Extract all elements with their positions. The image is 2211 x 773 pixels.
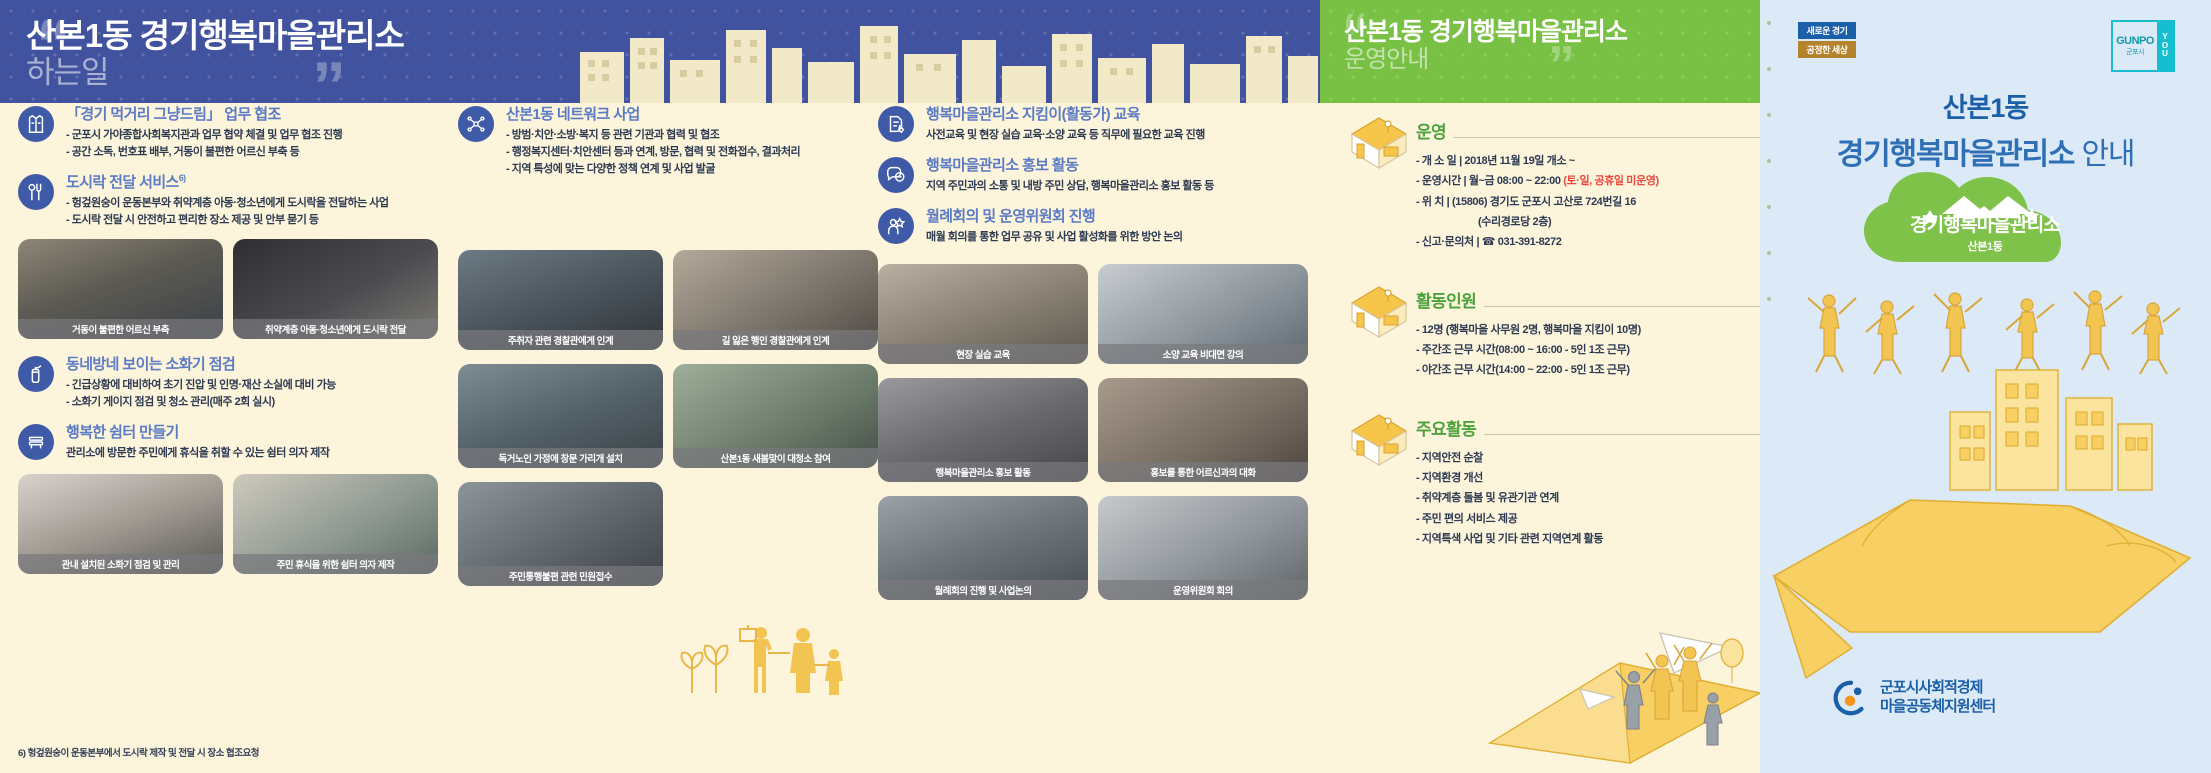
photo-card: 운영위원회 회의 (1098, 496, 1308, 600)
house-icon (1348, 283, 1410, 339)
photo-card: 주취자 관련 경찰관에게 인계 (458, 250, 663, 350)
operation-header-title: 산본1동 경기행복마을관리소 운영안내 (1344, 18, 1627, 74)
bullet: 매월 회의를 통한 업무 공유 및 사업 활성화를 위한 방안 논의 (926, 229, 1308, 246)
cutlery-icon (18, 174, 54, 210)
heading-rule (1454, 137, 1760, 138)
photo-caption: 월례회의 진행 및 사업논의 (878, 580, 1088, 600)
section-network-project: 산본1동 네트워크 사업 - 방범·치안·소방·복지 등 관련 기관과 협력 및… (458, 103, 878, 178)
list-item: - 지역환경 개선 (1416, 468, 1760, 488)
item-label: - 위 치 (1416, 196, 1444, 208)
section-bullets: 사전교육 및 현장 실습 교육·소양 교육 등 직무에 필요한 교육 진행 (926, 127, 1308, 144)
section-bullets: 지역 주민과의 소통 및 내방 주민 상담, 행복마을관리소 홍보 활동 등 (926, 178, 1308, 195)
bullet: - 공간 소독, 번호표 배부, 거동이 불편한 어르신 부축 등 (66, 144, 438, 161)
list-item: - 운영시간 | 월~금 08:00 ~ 22:00 (토·일, 공휴일 미운영… (1416, 171, 1760, 191)
operation-body: 운영 - 개 소 일 | 2018년 11월 19일 개소 ~ - 운영시간 |… (1320, 118, 1760, 575)
list-item: - 위 치 | (15806) 경기도 군포시 고산로 724번길 16 (수리… (1416, 192, 1760, 233)
item-value: 2018년 11월 19일 개소 ~ (1464, 155, 1574, 167)
bullet: - 지역 특성에 맞는 다양한 정책 연계 및 사업 발굴 (506, 161, 878, 178)
bullet: 지역 주민과의 소통 및 내방 주민 상담, 행복마을관리소 홍보 활동 등 (926, 178, 1308, 195)
section-title: 동네방네 보이는 소화기 점검 (66, 353, 438, 374)
item-value: (15806) 경기도 군포시 고산로 724번길 16 (1452, 196, 1636, 208)
family-illustration (668, 583, 868, 703)
presenter-icon (878, 208, 914, 244)
photo-card: 독거노인 가정에 창문 가리개 설치 (458, 364, 663, 468)
bullet: - 방범·치안·소방·복지 등 관련 기관과 협력 및 협조 (506, 127, 878, 144)
list-item: - 신고·문의처 | ☎ 031-391-8272 (1416, 232, 1760, 252)
block-title: 운영 (1416, 118, 1446, 143)
photo-card: 현장 실습 교육 (878, 264, 1088, 364)
item-highlight: (토·일, 공휴일 미운영) (1563, 175, 1659, 187)
item-value: 월~금 08:00 ~ 22:00 (1469, 175, 1561, 187)
section-guardian-training: 행복마을관리소 지킴이(활동가) 교육 사전교육 및 현장 실습 교육·소양 교… (878, 103, 1308, 144)
section-monthly-meeting: 월례회의 및 운영위원회 진행 매월 회의를 통한 업무 공유 및 사업 활성화… (878, 205, 1308, 246)
gunpo-logo-side: YOU (2157, 22, 2173, 70)
photo-group-col2-row2: 독거노인 가정에 창문 가리개 설치 산본1동 새봄맞이 대청소 참여 (458, 364, 878, 468)
skyline-illustration (560, 0, 1320, 103)
photo-caption: 거동이 불편한 어르신 부축 (18, 319, 223, 339)
center-logo-line1: 군포시사회적경제 (1880, 679, 1995, 698)
column-one: 「경기 먹거리 그냥드림」 업무 협조 - 군포시 가야종합사회복지관과 업무 … (18, 103, 438, 588)
inside-columns: 「경기 먹거리 그냥드림」 업무 협조 - 군포시 가야종합사회복지관과 업무 … (0, 103, 1320, 773)
photo-group-col3-row3: 월례회의 진행 및 사업논의 운영위원회 회의 (878, 496, 1308, 600)
paper-plane-people-illustration (1460, 573, 1760, 773)
photo-card: 관내 설치된 소화기 점검 및 관리 (18, 474, 223, 574)
section-title: 행복한 쉼터 만들기 (66, 421, 438, 442)
badge-sub: 산본1동 (1846, 238, 2124, 254)
operation-info-list: - 개 소 일 | 2018년 11월 19일 개소 ~ - 운영시간 | 월~… (1416, 151, 1760, 253)
gyeonggi-logo: 새로운 경기 공정한 세상 (1798, 22, 1856, 58)
cover-title-bold: 경기행복마을관리소 (1837, 138, 2075, 171)
heading-rule (1484, 434, 1760, 435)
block-heading: 주요활동 (1416, 415, 1760, 440)
list-item: - 지역특색 사업 및 기타 관련 지역연계 활동 (1416, 529, 1760, 549)
photo-caption: 홍보를 통한 어르신과의 대화 (1098, 462, 1308, 482)
village-office-badge: 경기행복마을관리소 산본1동 (1846, 170, 2124, 266)
inside-header-title: 산본1동 경기행복마을관리소 하는일 (26, 18, 404, 91)
photo-card: 거동이 불편한 어르신 부축 (18, 239, 223, 339)
photo-card: 월례회의 진행 및 사업논의 (878, 496, 1088, 600)
photo-caption: 운영위원회 회의 (1098, 580, 1308, 600)
cover-title-line1: 산본1동 (1760, 86, 2211, 125)
item-sep: | (1463, 175, 1466, 187)
badge-main: 경기행복마을관리소 (1846, 210, 2124, 237)
bullet: - 긴급상황에 대비하여 초기 진압 및 인명·재산 소실에 대비 가능 (66, 377, 438, 394)
photo-card: 행복마을관리소 홍보 활동 (878, 378, 1088, 482)
gunpo-logo-sub: 군포시 (2126, 47, 2144, 57)
footnote: 6) 헝겊원숭이 운동본부에서 도시락 제작 및 전달 시 장소 협조요청 (18, 745, 259, 759)
list-item: - 지역안전 순찰 (1416, 448, 1760, 468)
operation-title-line1: 산본1동 경기행복마을관리소 (1344, 18, 1627, 46)
photo-caption: 산본1동 새봄맞이 대청소 참여 (673, 448, 878, 468)
photo-card: 취약계층 아동·청소년에게 도시락 전달 (233, 239, 438, 339)
brochure-page: “ 산본1동 경기행복마을관리소 하는일 ” 「경기 먹거리 그냥드림」 업무 … (0, 0, 2211, 773)
column-three: 행복마을관리소 지킴이(활동가) 교육 사전교육 및 현장 실습 교육·소양 교… (878, 103, 1308, 614)
photo-group-col2-row1: 주취자 관련 경찰관에게 인계 길 잃은 행인 경찰관에게 인계 (458, 250, 878, 350)
list-item: - 주간조 근무 시간(08:00 ~ 16:00 - 5인 1조 근무) (1416, 340, 1760, 360)
list-item: - 야간조 근무 시간(14:00 ~ 22:00 - 5인 1조 근무) (1416, 360, 1760, 380)
photo-caption: 현장 실습 교육 (878, 344, 1088, 364)
bullet: - 도시락 전달 시 안전하고 편리한 장소 제공 및 안부 묻기 등 (66, 212, 438, 229)
inside-panel: “ 산본1동 경기행복마을관리소 하는일 ” 「경기 먹거리 그냥드림」 업무 … (0, 0, 1320, 773)
section-title: 「경기 먹거리 그냥드림」 업무 협조 (66, 103, 438, 124)
item-sep: | (1447, 196, 1450, 208)
vest-icon (18, 106, 54, 142)
gunpo-logo-text: GUNPO (2116, 36, 2154, 47)
section-food-sharing: 「경기 먹거리 그냥드림」 업무 협조 - 군포시 가야종합사회복지관과 업무 … (18, 103, 438, 161)
inside-title-line1: 산본1동 경기행복마을관리소 (26, 18, 404, 55)
photo-caption: 길 잃은 행인 경찰관에게 인계 (673, 330, 878, 350)
section-happy-shelter: 행복한 쉼터 만들기 관리소에 방문한 주민에게 휴식을 취할 수 있는 쉼터 … (18, 421, 438, 462)
item-label: - 운영시간 (1416, 175, 1461, 187)
block-operation-info: 운영 - 개 소 일 | 2018년 11월 19일 개소 ~ - 운영시간 |… (1320, 118, 1760, 253)
gyeonggi-logo-line2: 공정한 세상 (1798, 41, 1856, 58)
photo-group-col1-row2: 관내 설치된 소화기 점검 및 관리 주민 휴식을 위한 쉼터 의자 제작 (18, 474, 438, 574)
section-lunchbox-delivery: 도시락 전달 서비스6) - 헝겊원숭이 운동본부와 취약계층 아동·청소년에게… (18, 171, 438, 229)
block-title: 주요활동 (1416, 415, 1476, 440)
house-icon (1348, 114, 1410, 170)
column-two: 산본1동 네트워크 사업 - 방범·치안·소방·복지 등 관련 기관과 협력 및… (458, 103, 878, 600)
block-heading: 운영 (1416, 118, 1760, 143)
cover-panel: 새로운 경기 공정한 세상 GUNPO 군포시 YOU 산본1동 경기행복마을관… (1760, 0, 2211, 773)
item-label: - 신고·문의처 (1416, 236, 1474, 248)
center-logo-line2: 마을공동체지원센터 (1880, 698, 1995, 717)
item-sep: | (1476, 236, 1479, 248)
bullet: - 군포시 가야종합사회복지관과 업무 협약 체결 및 업무 협조 진행 (66, 127, 438, 144)
photo-group-col2-row3: 주민통행불편 관련 민원접수 (458, 482, 663, 586)
photo-card: 주민 휴식을 위한 쉼터 의자 제작 (233, 474, 438, 574)
photo-card: 소양 교육 비대면 강의 (1098, 264, 1308, 364)
badge-text: 경기행복마을관리소 산본1동 (1846, 210, 2124, 254)
photo-caption: 취약계층 아동·청소년에게 도시락 전달 (233, 319, 438, 339)
extinguisher-icon (18, 356, 54, 392)
section-title: 행복마을관리소 홍보 활동 (926, 154, 1308, 175)
center-logo-mark (1832, 679, 1870, 717)
cover-title-light: 안내 (2081, 138, 2134, 171)
list-item: - 12명 (행복마을 사무원 2명, 행복마을 지킴이 10명) (1416, 320, 1760, 340)
gunpo-city-logo: GUNPO 군포시 YOU (2111, 20, 2175, 72)
section-title: 월례회의 및 운영위원회 진행 (926, 205, 1308, 226)
section-fire-extinguisher-check: 동네방네 보이는 소화기 점검 - 긴급상황에 대비하여 초기 진압 및 인명·… (18, 353, 438, 411)
section-bullets: - 방범·치안·소방·복지 등 관련 기관과 협력 및 협조 - 행정복지센터·… (506, 127, 878, 178)
photo-caption: 주취자 관련 경찰관에게 인계 (458, 330, 663, 350)
section-title: 산본1동 네트워크 사업 (506, 103, 878, 124)
photo-card: 길 잃은 행인 경찰관에게 인계 (673, 250, 878, 350)
section-title-text: 도시락 전달 서비스 (66, 174, 179, 191)
photo-caption: 행복마을관리소 홍보 활동 (878, 462, 1088, 482)
cover-title: 산본1동 경기행복마을관리소 안내 (1760, 86, 2211, 173)
section-title-sup: 6) (179, 173, 186, 183)
cover-title-line2: 경기행복마을관리소 안내 (1760, 129, 2211, 173)
block-title: 활동인원 (1416, 287, 1476, 312)
document-pen-icon (878, 106, 914, 142)
inside-title-line2: 하는일 (26, 55, 404, 91)
block-staff-info: 활동인원 - 12명 (행복마을 사무원 2명, 행복마을 지킴이 10명) -… (1320, 287, 1760, 381)
section-title: 도시락 전달 서비스6) (66, 171, 438, 192)
bullet: 관리소에 방문한 주민에게 휴식을 취할 수 있는 쉼터 의자 제작 (66, 445, 438, 462)
house-icon (1348, 411, 1410, 467)
block-heading: 활동인원 (1416, 287, 1760, 312)
block-main-activities: 주요활동 - 지역안전 순찰 - 지역환경 개선 - 취약계층 돌봄 및 유관기… (1320, 415, 1760, 550)
bullet: - 헝겊원숭이 운동본부와 취약계층 아동·청소년에게 도시락을 전달하는 사업 (66, 195, 438, 212)
inside-header-band: “ 산본1동 경기행복마을관리소 하는일 ” (0, 0, 1320, 103)
section-title: 행복마을관리소 지킴이(활동가) 교육 (926, 103, 1308, 124)
staff-info-list: - 12명 (행복마을 사무원 2명, 행복마을 지킴이 10명) - 주간조 … (1416, 320, 1760, 381)
photo-group-col3-row1: 현장 실습 교육 소양 교육 비대면 강의 (878, 264, 1308, 364)
network-icon (458, 106, 494, 142)
section-bullets: 관리소에 방문한 주민에게 휴식을 취할 수 있는 쉼터 의자 제작 (66, 445, 438, 462)
center-logo-text: 군포시사회적경제 마을공동체지원센터 (1880, 679, 1995, 717)
item-sep: | (1459, 155, 1462, 167)
operation-header-band: “ 산본1동 경기행복마을관리소 운영안내 ” (1320, 0, 1760, 103)
photo-card: 산본1동 새봄맞이 대청소 참여 (673, 364, 878, 468)
photo-card: 홍보를 통한 어르신과의 대화 (1098, 378, 1308, 482)
speech-bubble-icon (878, 157, 914, 193)
photo-card: 주민통행불편 관련 민원접수 (458, 482, 663, 586)
support-center-logo: 군포시사회적경제 마을공동체지원센터 (1832, 679, 1995, 717)
operation-title-line2: 운영안내 (1344, 46, 1627, 74)
photo-caption: 소양 교육 비대면 강의 (1098, 344, 1308, 364)
bullet: - 소화기 게이지 점검 및 청소 관리(매주 2회 실시) (66, 394, 438, 411)
section-bullets: - 군포시 가야종합사회복지관과 업무 협약 체결 및 업무 협조 진행 - 공… (66, 127, 438, 161)
photo-caption: 관내 설치된 소화기 점검 및 관리 (18, 554, 223, 574)
photo-caption: 독거노인 가정에 창문 가리개 설치 (458, 448, 663, 468)
list-item: - 주민 편의 서비스 제공 (1416, 509, 1760, 529)
bullet: - 행정복지센터·치안센터 등과 연계, 방문, 협력 및 전화접수, 결과처리 (506, 144, 878, 161)
item-value: ☎ 031-391-8272 (1482, 236, 1562, 248)
gunpo-logo-main: GUNPO 군포시 (2113, 22, 2157, 70)
quote-close-mark: ” (1548, 38, 1575, 92)
section-bullets: - 긴급상황에 대비하여 초기 진압 및 인명·재산 소실에 대비 가능 - 소… (66, 377, 438, 411)
section-bullets: 매월 회의를 통한 업무 공유 및 사업 활성화를 위한 방안 논의 (926, 229, 1308, 246)
item-label: - 개 소 일 (1416, 155, 1456, 167)
section-bullets: - 헝겊원숭이 운동본부와 취약계층 아동·청소년에게 도시락을 전달하는 사업… (66, 195, 438, 229)
photo-group-col1-row1: 거동이 불편한 어르신 부축 취약계층 아동·청소년에게 도시락 전달 (18, 239, 438, 339)
heading-rule (1484, 306, 1760, 307)
list-item: - 취약계층 돌봄 및 유관기관 연계 (1416, 488, 1760, 508)
section-promotion-activity: 행복마을관리소 홍보 활동 지역 주민과의 소통 및 내방 주민 상담, 행복마… (878, 154, 1308, 195)
gyeonggi-logo-line1: 새로운 경기 (1798, 22, 1856, 39)
list-item: - 개 소 일 | 2018년 11월 19일 개소 ~ (1416, 151, 1760, 171)
main-activities-list: - 지역안전 순찰 - 지역환경 개선 - 취약계층 돌봄 및 유관기관 연계 … (1416, 448, 1760, 550)
hand-holding-town-illustration (1760, 350, 2211, 680)
operation-panel: “ 산본1동 경기행복마을관리소 운영안내 ” (1320, 0, 1760, 773)
photo-caption: 주민통행불편 관련 민원접수 (458, 566, 663, 586)
bullet: 사전교육 및 현장 실습 교육·소양 교육 등 직무에 필요한 교육 진행 (926, 127, 1308, 144)
photo-caption: 주민 휴식을 위한 쉼터 의자 제작 (233, 554, 438, 574)
photo-group-col3-row2: 행복마을관리소 홍보 활동 홍보를 통한 어르신과의 대화 (878, 378, 1308, 482)
item-subvalue: (수리경로당 2층) (1416, 212, 1760, 232)
bench-icon (18, 424, 54, 460)
